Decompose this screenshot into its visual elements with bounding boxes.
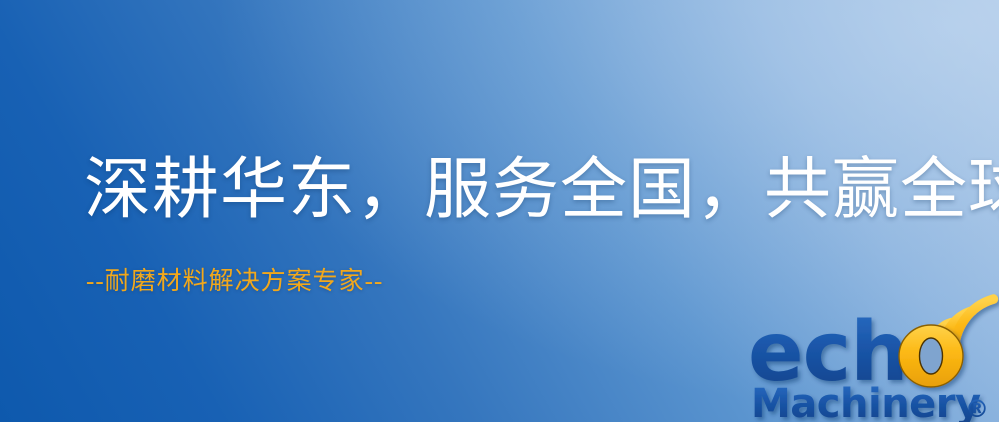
logo-subword-machinery: Machinery <box>751 381 981 422</box>
logo-letter-o <box>899 325 963 387</box>
banner-subtitle: --耐磨材料解决方案专家-- <box>86 266 383 298</box>
banner-headline: 深耕华东，服务全国，共赢全球 <box>84 150 999 230</box>
hero-banner: 深耕华东，服务全国，共赢全球 --耐磨材料解决方案专家-- <box>0 0 999 422</box>
echo-machinery-logo[interactable]: ech Machinery ® <box>748 298 999 422</box>
logo-trademark-symbol: ® <box>965 395 989 422</box>
